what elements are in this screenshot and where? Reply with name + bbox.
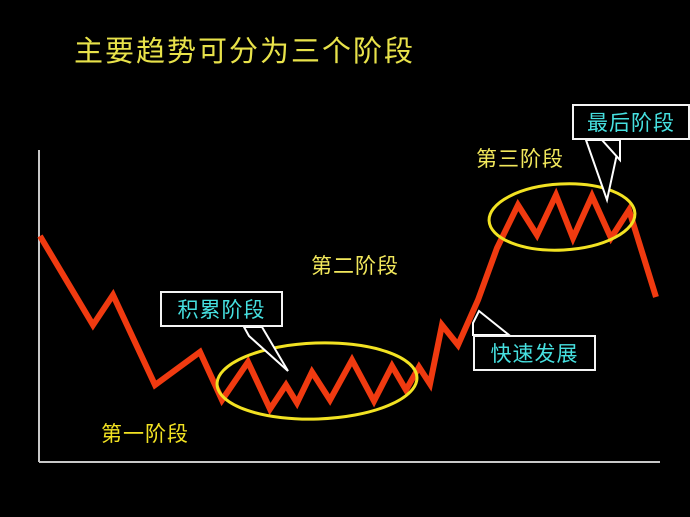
slide-canvas: 主要趋势可分为三个阶段 第一阶段 第二阶段 第三阶段 积累阶段 快速发展 最后阶… (0, 0, 690, 517)
trend-line (40, 195, 656, 409)
callout-final-stage: 最后阶段 (572, 104, 690, 140)
phase-1-label: 第一阶段 (101, 418, 189, 448)
leader-rapid-growth (473, 311, 509, 335)
callout-rapid-growth: 快速发展 (473, 335, 596, 371)
callout-accumulation: 积累阶段 (160, 291, 283, 327)
page-title: 主要趋势可分为三个阶段 (74, 28, 415, 70)
phase-3-label: 第三阶段 (476, 143, 564, 173)
phase-2-label: 第二阶段 (311, 250, 399, 280)
